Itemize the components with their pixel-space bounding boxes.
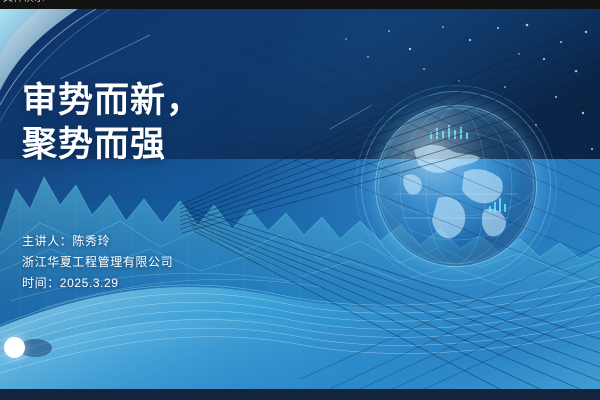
window-title-bar[interactable]: 文件演示 xyxy=(0,0,600,9)
accent-dot xyxy=(4,337,25,358)
slide-canvas: 审势而新， 聚势而强 主讲人：陈秀玲 浙江华夏工程管理有限公司 时间：2025.… xyxy=(0,9,600,389)
globe-sphere xyxy=(375,105,537,267)
window-title-label: 文件演示 xyxy=(3,0,45,4)
subtitle-presenter: 主讲人：陈秀玲 xyxy=(22,231,173,252)
subtitle-date: 时间：2025.3.29 xyxy=(22,273,173,294)
slide-title-block: 审势而新， 聚势而强 xyxy=(22,79,202,167)
subtitle-company: 浙江华夏工程管理有限公司 xyxy=(22,252,173,273)
digital-globe xyxy=(355,85,555,285)
slide-title-line-1: 审势而新， xyxy=(22,79,202,123)
window-bottom-bar[interactable] xyxy=(0,389,600,400)
globe-continents xyxy=(376,106,536,266)
slide-title-line-2: 聚势而强 xyxy=(22,123,202,167)
slide-subtitle-block: 主讲人：陈秀玲 浙江华夏工程管理有限公司 时间：2025.3.29 xyxy=(22,231,173,294)
presentation-slide-window: 文件演示 xyxy=(0,0,600,400)
